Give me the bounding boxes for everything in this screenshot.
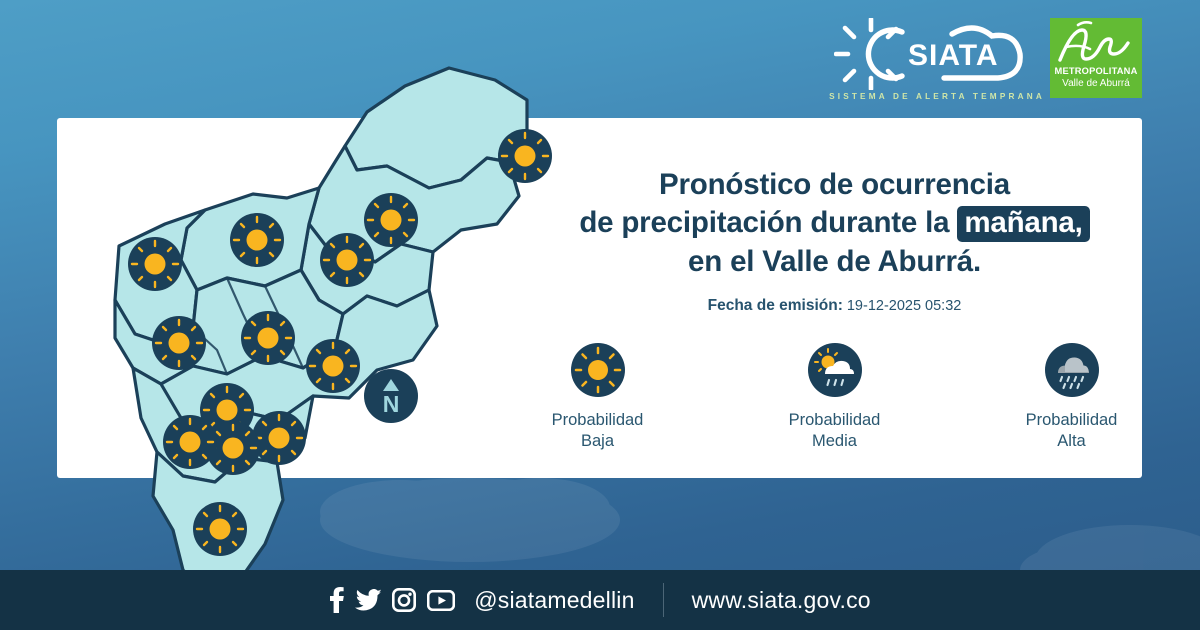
marker-3[interactable] [320, 233, 374, 287]
marker-2[interactable] [364, 193, 418, 247]
legend-baja-line2: Baja [527, 431, 668, 452]
social-handle[interactable]: @siatamedellin [474, 587, 634, 614]
legend-media-line2: Media [764, 431, 905, 452]
title-highlight-manana: mañana, [957, 206, 1089, 242]
cloud-rain-icon [1045, 343, 1099, 397]
issue-date: Fecha de emisión:19-12-2025 05:32 [527, 297, 1142, 315]
legend-media-line1: Probabilidad [764, 410, 905, 431]
legend-label-alta: Probabilidad Alta [1001, 410, 1142, 452]
footer-bar: @siatamedellin www.siata.gov.co [0, 570, 1200, 630]
marker-10[interactable] [252, 411, 306, 465]
facebook-icon[interactable] [329, 587, 344, 613]
legend-item-alta: Probabilidad Alta [1001, 343, 1142, 452]
map-markers: N [57, 38, 527, 558]
marker-13[interactable] [193, 502, 247, 556]
marker-8[interactable] [306, 339, 360, 393]
marker-12[interactable] [163, 415, 217, 469]
legend-label-baja: Probabilidad Baja [527, 410, 668, 452]
legend-baja-line1: Probabilidad [527, 410, 668, 431]
instagram-icon[interactable] [392, 588, 416, 612]
compass-rose: N [364, 369, 418, 423]
marker-6[interactable] [152, 316, 206, 370]
legend-item-baja: Probabilidad Baja [527, 343, 668, 452]
forecast-panel: Pronóstico de ocurrencia de precipitació… [527, 118, 1142, 478]
probability-legend: Probabilidad Baja [527, 343, 1142, 452]
title-line-3: en el Valle de Aburrá. [527, 243, 1142, 281]
logo-group: SIATA SISTEMA DE ALERTA TEMPRANA METROPO… [834, 18, 1142, 98]
website-url[interactable]: www.siata.gov.co [692, 587, 871, 614]
legend-label-media: Probabilidad Media [764, 410, 905, 452]
marker-4[interactable] [230, 213, 284, 267]
youtube-icon[interactable] [427, 590, 455, 611]
title-line-1: Pronóstico de ocurrencia [527, 166, 1142, 204]
area-line1: METROPOLITANA [1050, 66, 1142, 76]
siata-wordmark: SIATA [908, 39, 999, 72]
siata-tagline: SISTEMA DE ALERTA TEMPRANA [828, 92, 1046, 101]
legend-item-media: Probabilidad Media [764, 343, 905, 452]
issue-date-value: 19-12-2025 05:32 [847, 298, 962, 314]
marker-7[interactable] [241, 311, 295, 365]
aburra-valley-map: N [57, 38, 527, 558]
marker-5[interactable] [128, 237, 182, 291]
issue-date-label: Fecha de emisión: [708, 297, 843, 314]
siata-logo-mark: SIATA [834, 18, 1040, 90]
twitter-icon[interactable] [355, 589, 381, 611]
sun-icon [571, 343, 625, 397]
area-line2: Valle de Aburrá [1050, 78, 1142, 89]
title-line-2-text: de precipitación durante la [579, 206, 949, 239]
compass-label: N [383, 391, 400, 417]
social-icons [329, 587, 455, 613]
title-line-2: de precipitación durante la mañana, [527, 204, 1142, 242]
footer-divider [663, 583, 664, 617]
area-script-mark [1050, 18, 1142, 68]
siata-logo: SIATA SISTEMA DE ALERTA TEMPRANA [834, 18, 1040, 95]
sun-rain-icon [808, 343, 862, 397]
legend-alta-line2: Alta [1001, 431, 1142, 452]
content-card: N Pronóstico de ocurrencia de precipitac… [57, 118, 1142, 478]
page-title: Pronóstico de ocurrencia de precipitació… [527, 166, 1142, 281]
area-metropolitana-logo: METROPOLITANA Valle de Aburrá [1050, 18, 1142, 98]
marker-sun-group [128, 129, 552, 556]
legend-alta-line1: Probabilidad [1001, 410, 1142, 431]
